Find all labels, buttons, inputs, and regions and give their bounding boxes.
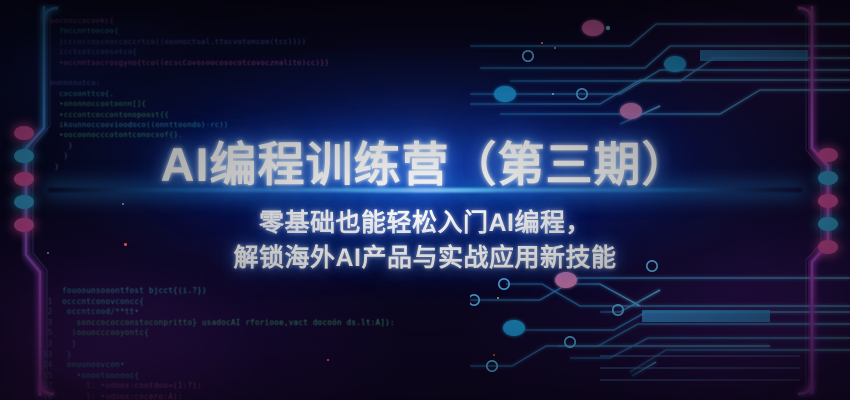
subtitle-line-1: 零基础也能轻松入门AI编程，: [0, 203, 850, 239]
promo-poster: oocnnccocookc{ ?occnntoocoo{ jcccnccoscn…: [0, 0, 850, 400]
subtitle-line-2: 解锁海外AI产品与实战应用新技能: [0, 238, 850, 274]
page-title: AI编程训练营（第三期）: [0, 126, 850, 195]
neon-frame: [0, 0, 850, 400]
